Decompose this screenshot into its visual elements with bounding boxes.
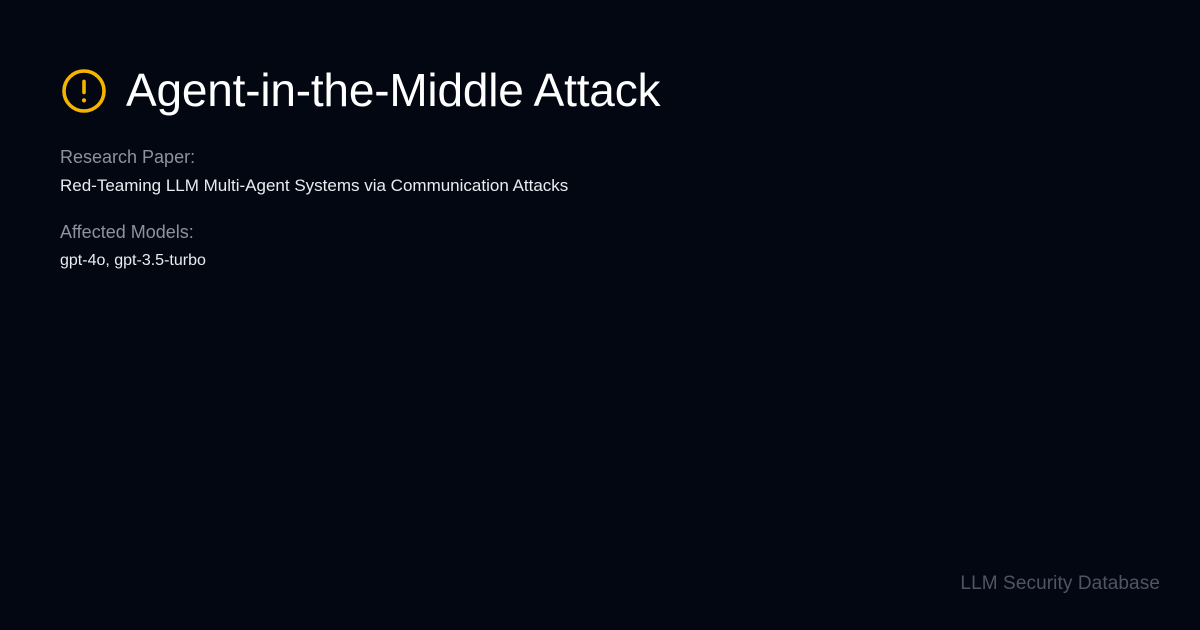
card-header: Agent-in-the-Middle Attack: [60, 58, 660, 122]
footer-brand: LLM Security Database: [960, 573, 1160, 595]
research-paper-label: Research Paper:: [60, 144, 1140, 170]
research-paper-block: Research Paper: Red-Teaming LLM Multi-Ag…: [60, 144, 1140, 199]
research-paper-value: Red-Teaming LLM Multi-Agent Systems via …: [60, 174, 1140, 199]
affected-models-label: Affected Models:: [60, 219, 1140, 245]
affected-models-block: Affected Models: gpt-4o, gpt-3.5-turbo: [60, 219, 1140, 272]
affected-models-value: gpt-4o, gpt-3.5-turbo: [60, 249, 1140, 272]
alert-circle-icon: [60, 67, 108, 115]
metadata-section: Research Paper: Red-Teaming LLM Multi-Ag…: [60, 144, 1140, 272]
attack-summary-card: Agent-in-the-Middle Attack Research Pape…: [0, 0, 1200, 630]
page-title: Agent-in-the-Middle Attack: [126, 66, 660, 114]
